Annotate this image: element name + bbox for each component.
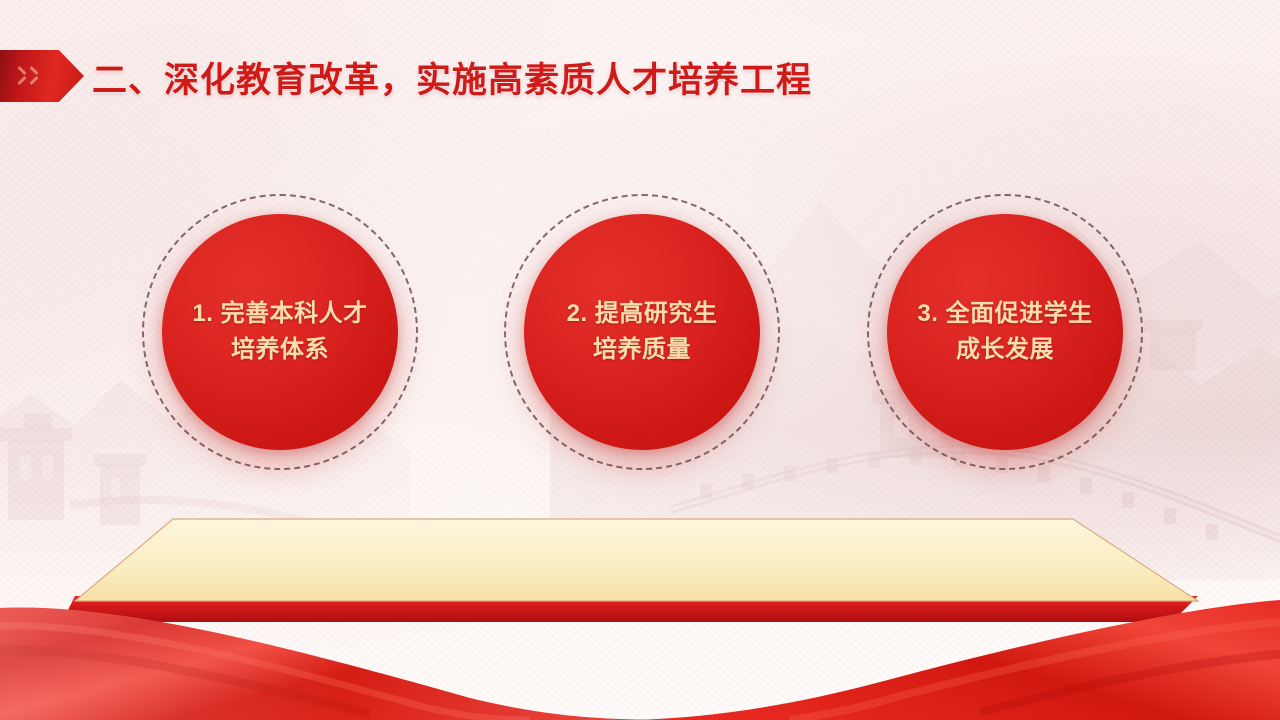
circle-label-3: 3. 全面促进学生 成长发展	[895, 296, 1114, 369]
content-circle-1[interactable]: 1. 完善本科人才 培养体系	[142, 194, 418, 470]
content-circle-2[interactable]: 2. 提高研究生 培养质量	[504, 194, 780, 470]
slide-canvas: 二、深化教育改革，实施高素质人才培养工程 1. 完善本科人才 培养体系 2. 提…	[0, 0, 1280, 720]
circle-label-1: 1. 完善本科人才 培养体系	[170, 296, 389, 369]
circle-label-2: 2. 提高研究生 培养质量	[545, 296, 740, 369]
ribbon-right	[620, 600, 1280, 720]
circle-disc-1: 1. 完善本科人才 培养体系	[162, 214, 398, 450]
red-silk-ribbon	[0, 530, 1280, 720]
circle-disc-3: 3. 全面促进学生 成长发展	[887, 214, 1123, 450]
content-circle-3[interactable]: 3. 全面促进学生 成长发展	[867, 194, 1143, 470]
circle-disc-2: 2. 提高研究生 培养质量	[524, 214, 760, 450]
